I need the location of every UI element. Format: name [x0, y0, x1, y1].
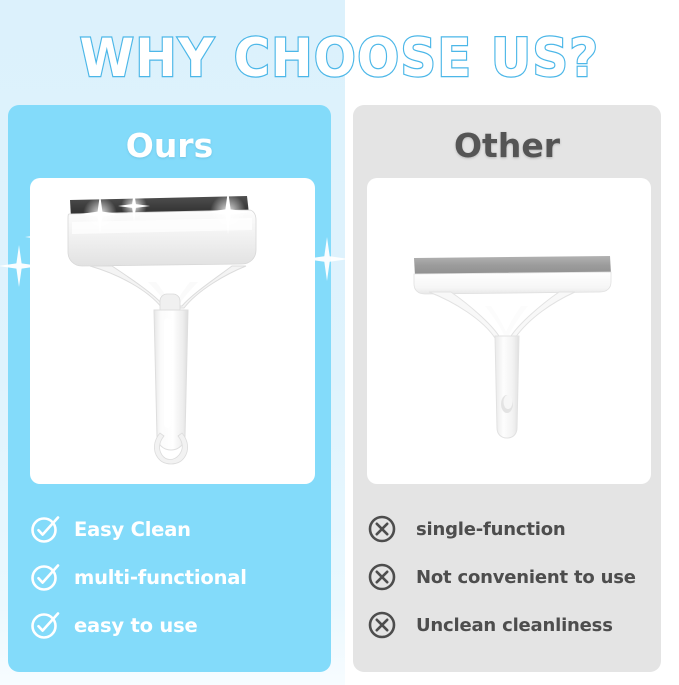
check-circle-icon — [30, 562, 60, 592]
check-circle-icon — [30, 514, 60, 544]
cross-circle-icon — [367, 610, 397, 640]
feature-item: multi-functional — [8, 553, 331, 601]
feature-label: Easy Clean — [74, 518, 191, 541]
cross-circle-icon — [367, 562, 397, 592]
feature-list-ours: Easy Clean multi-functional — [8, 505, 331, 649]
feature-item: Easy Clean — [8, 505, 331, 553]
feature-item: easy to use — [8, 601, 331, 649]
comparison-infographic: WHY CHOOSE US? Ours — [0, 0, 679, 685]
feature-item: Unclean cleanliness — [353, 601, 661, 649]
heading-other: Other — [353, 127, 661, 165]
feature-label: Not convenient to use — [416, 567, 636, 588]
feature-label: multi-functional — [74, 566, 247, 589]
product-image-ours — [30, 178, 315, 484]
feature-label: Unclean cleanliness — [416, 615, 613, 636]
feature-list-other: single-function Not convenient to use — [353, 505, 661, 649]
panel-ours: Ours — [8, 105, 331, 672]
heading-ours: Ours — [8, 127, 331, 165]
page-title: WHY CHOOSE US? — [24, 30, 655, 88]
feature-label: single-function — [416, 519, 566, 540]
feature-label: easy to use — [74, 614, 198, 637]
product-image-other — [367, 178, 651, 484]
feature-item: Not convenient to use — [353, 553, 661, 601]
product-image-card-ours — [30, 178, 315, 484]
check-circle-icon — [30, 610, 60, 640]
cross-circle-icon — [367, 514, 397, 544]
feature-item: single-function — [353, 505, 661, 553]
product-image-card-other — [367, 178, 651, 484]
panel-other: Other — [353, 105, 661, 672]
